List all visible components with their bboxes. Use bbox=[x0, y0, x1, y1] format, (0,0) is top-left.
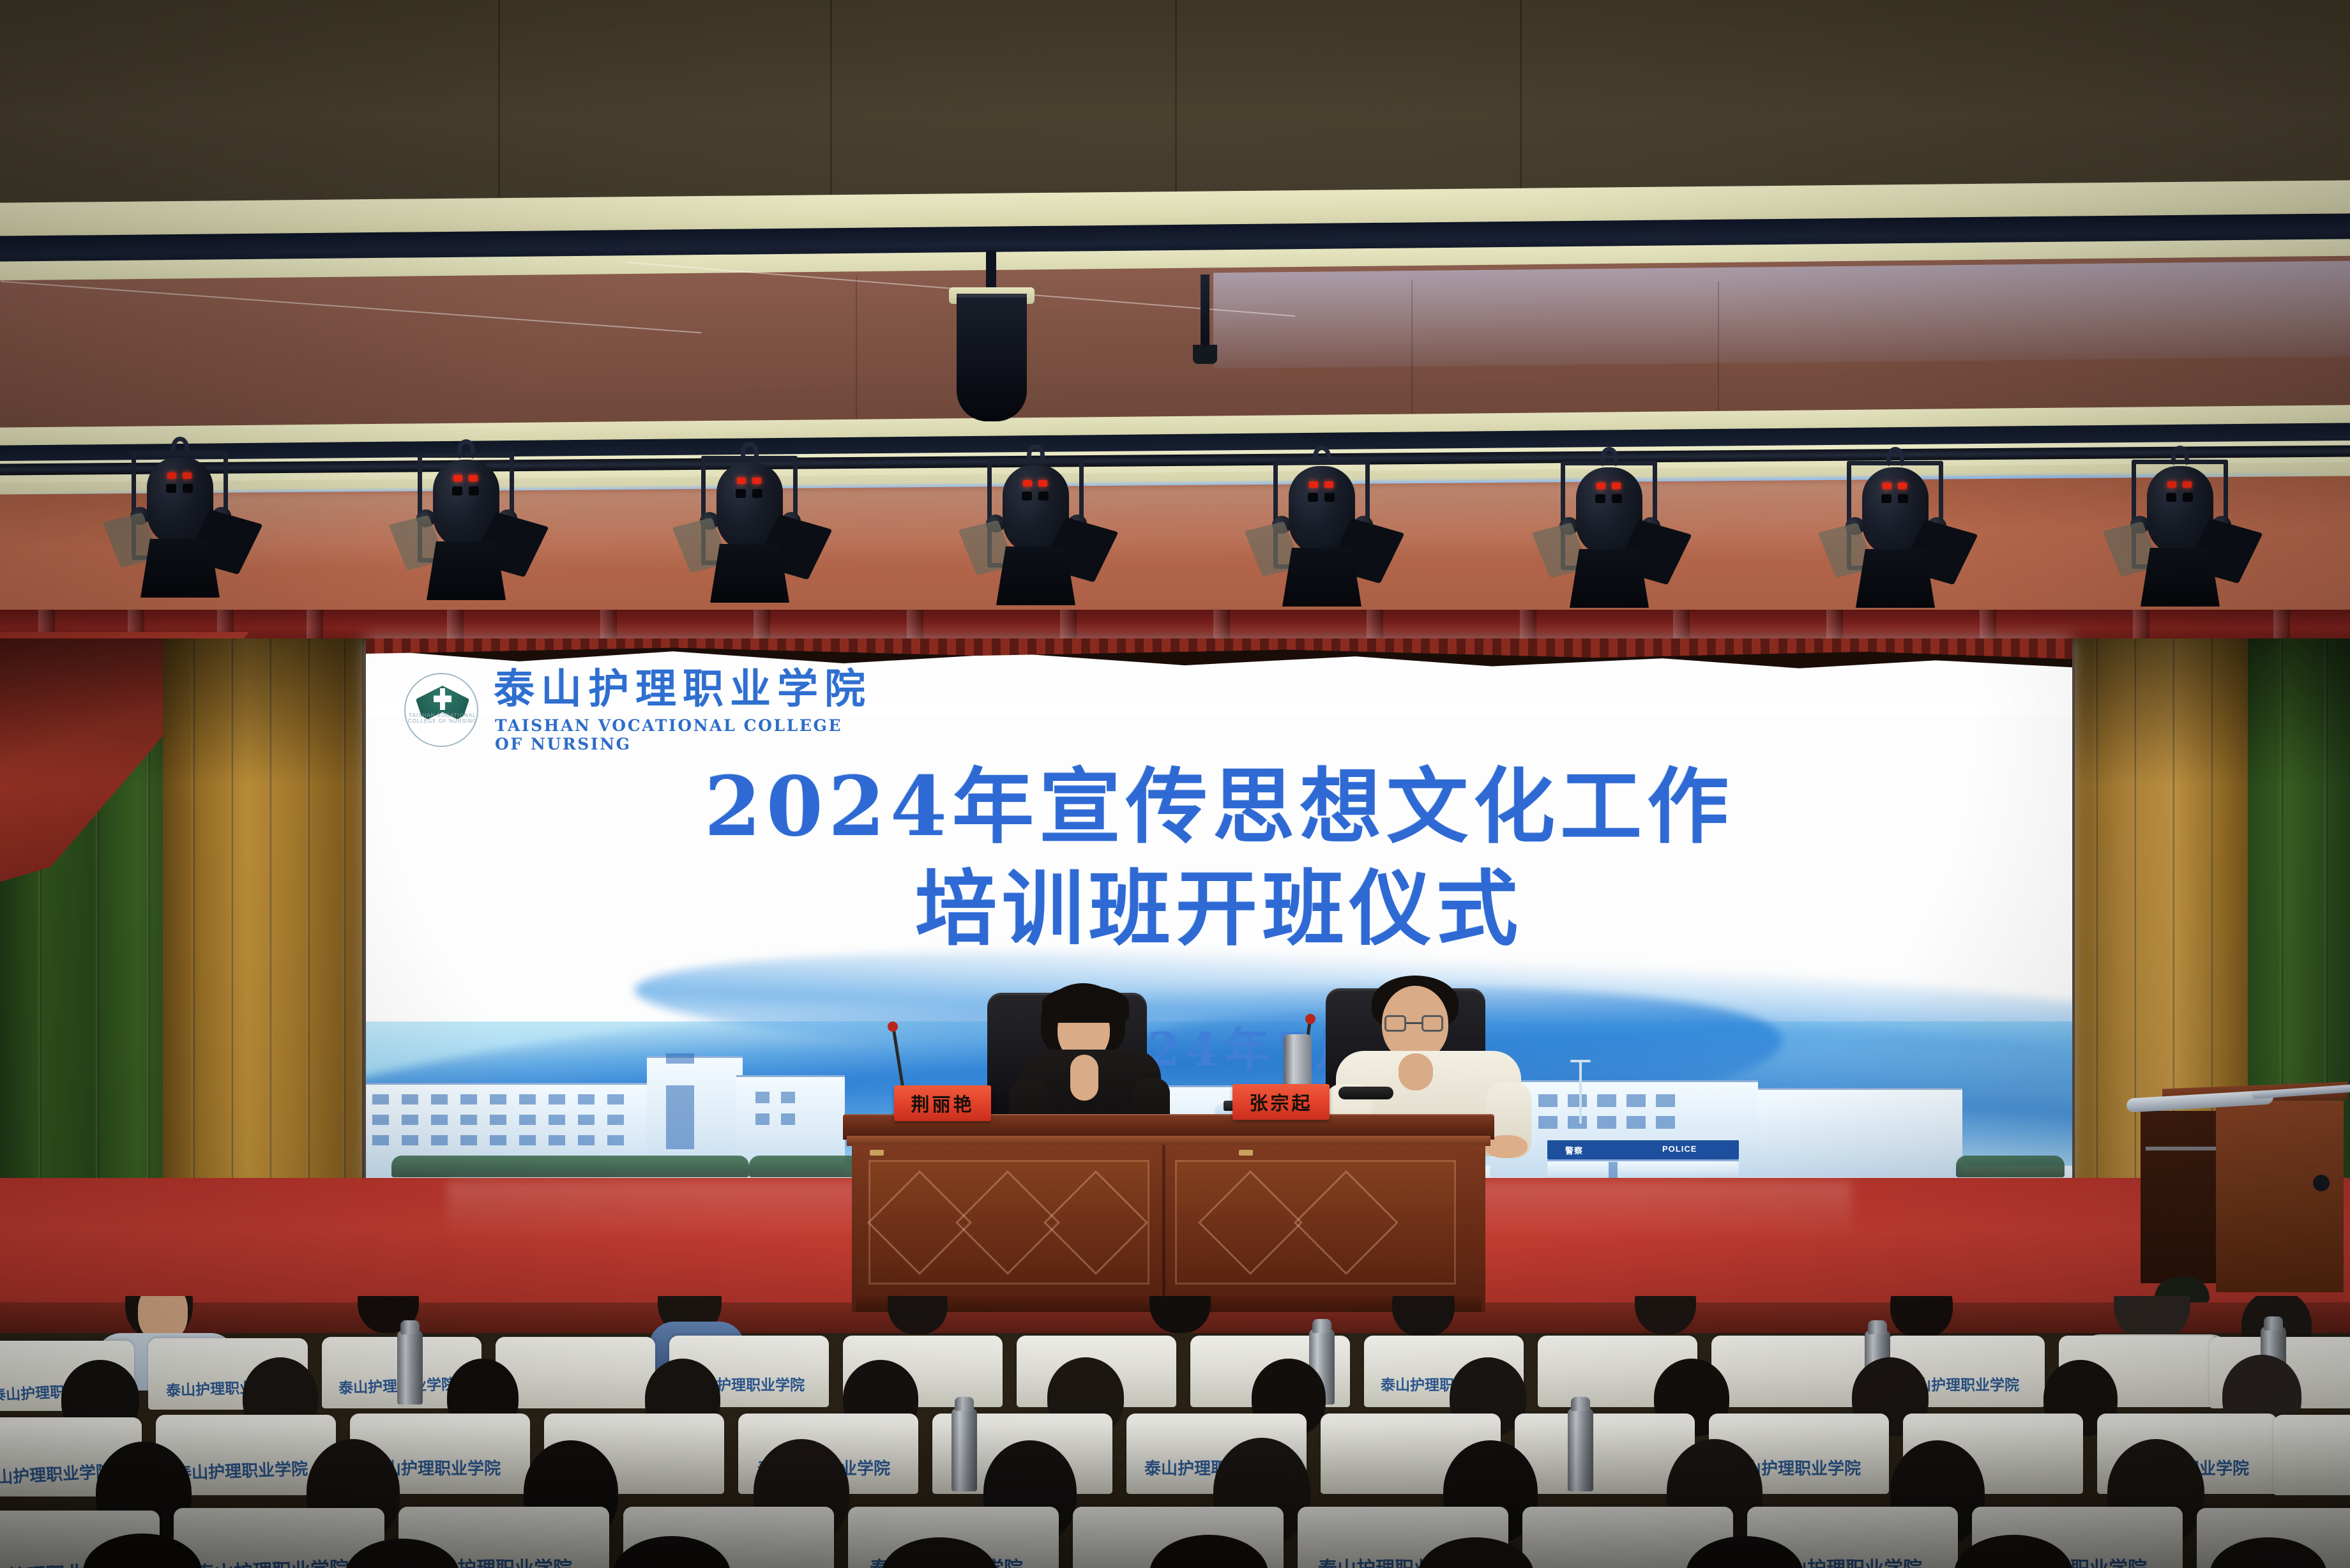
stage-spotlight-icon bbox=[1550, 447, 1669, 607]
stage-spotlight-icon bbox=[121, 437, 240, 596]
stage-spotlight-icon bbox=[691, 442, 810, 601]
ceiling-sensor-rod bbox=[1201, 275, 1209, 351]
wooden-lectern bbox=[2126, 1085, 2350, 1302]
stage-spotlight-icon bbox=[1263, 446, 1382, 605]
nameplate-right-text: 张宗起 bbox=[1249, 1089, 1312, 1115]
college-logo: TAISHAN VOCATIONAL COLLEGE OF NURSING 泰山… bbox=[404, 669, 877, 758]
audience-chair bbox=[1711, 1336, 1871, 1407]
stage-spotlight-icon bbox=[2121, 446, 2240, 605]
thermos-flask bbox=[951, 1408, 977, 1491]
head-table bbox=[843, 1114, 1494, 1312]
chair-cover-text: 泰山护理职业学院 bbox=[195, 1553, 349, 1568]
slide-title-line1: 2024年宣传思想文化工作 bbox=[366, 763, 2072, 851]
audience-seating: 泰山护理职业学院 泰山护理职业学院 泰山护理职业学院 泰山护理职业学院 泰山护理… bbox=[0, 1296, 2350, 1568]
presentation-screen: TAISHAN VOCATIONAL COLLEGE OF NURSING 泰山… bbox=[366, 638, 2072, 1187]
audience-chair bbox=[496, 1337, 655, 1408]
auditorium-photo: TAISHAN VOCATIONAL COLLEGE OF NURSING 泰山… bbox=[0, 0, 2350, 1568]
stage-spotlight-icon bbox=[1837, 447, 1955, 607]
nameplate-right: 张宗起 bbox=[1232, 1084, 1330, 1120]
chair-cover-text: 泰山护理职业学院 bbox=[174, 1456, 308, 1484]
police-sign-cn: 警察 bbox=[1565, 1144, 1583, 1156]
thermos-flask bbox=[1568, 1408, 1593, 1491]
college-name-cn: 泰山护理职业学院 bbox=[494, 669, 872, 710]
stage-spotlight-icon bbox=[977, 444, 1096, 604]
lectern-knob-icon bbox=[2313, 1175, 2330, 1191]
nursing-college-emblem-icon: TAISHAN VOCATIONAL COLLEGE OF NURSING bbox=[404, 673, 478, 747]
thermos-flask bbox=[397, 1331, 423, 1405]
nameplate-left-text: 荆丽艳 bbox=[911, 1090, 974, 1117]
stage-spotlight-icon bbox=[407, 439, 526, 599]
ceiling-projector-icon bbox=[957, 294, 1027, 421]
eyeglasses bbox=[1338, 1087, 1393, 1099]
college-name-en: TAISHAN VOCATIONAL COLLEGE OF NURSING bbox=[495, 716, 877, 753]
audience-chair bbox=[2273, 1415, 2350, 1495]
slide-date: 2024年7月 bbox=[366, 1012, 2072, 1079]
slide-title: 2024年宣传思想文化工作 培训班开班仪式 bbox=[366, 763, 2072, 953]
police-sign: POLICE bbox=[1662, 1144, 1697, 1154]
nameplate-left: 荆丽艳 bbox=[894, 1085, 991, 1121]
emblem-ring-text: TAISHAN VOCATIONAL COLLEGE OF NURSING bbox=[407, 712, 478, 748]
slide-title-line2: 培训班开班仪式 bbox=[366, 865, 2072, 953]
